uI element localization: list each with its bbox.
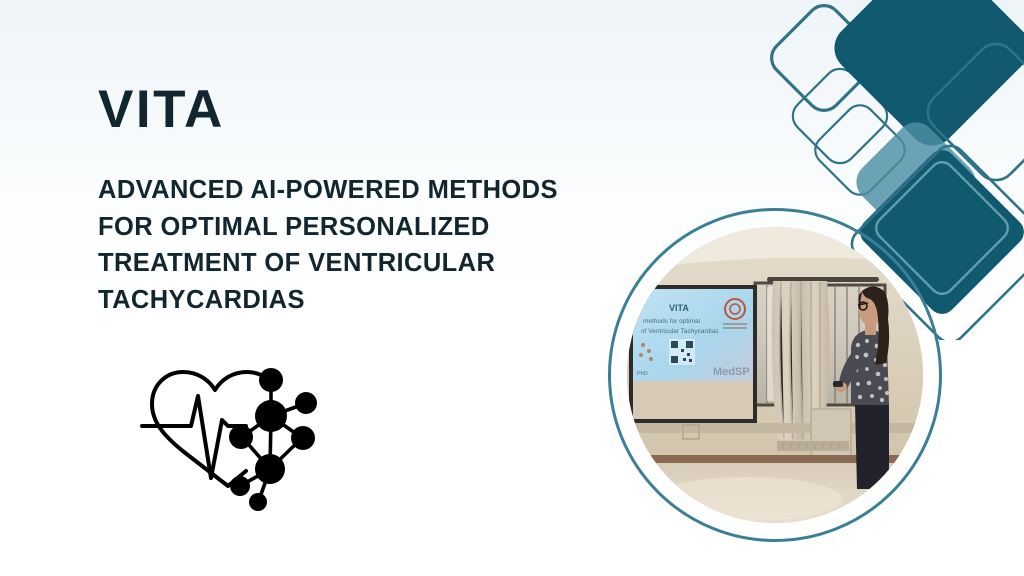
headline-block: VITA ADVANCED AI-POWERED METHODS FOR OPT… <box>98 83 638 319</box>
photo-medallion: VITA methods for optimal of Ventricular … <box>608 208 942 542</box>
outline-diamond-top-left <box>765 0 884 117</box>
subtitle-line-4: TACHYCARDIAS <box>98 282 638 319</box>
svg-text:PhD: PhD <box>637 371 648 377</box>
project-subtitle: ADVANCED AI-POWERED METHODS FOR OPTIMAL … <box>98 172 638 319</box>
outline-diamond-small-a <box>786 62 893 169</box>
svg-text:VITA: VITA <box>669 303 689 313</box>
subtitle-line-2: FOR OPTIMAL PERSONALIZED <box>98 209 638 246</box>
svg-text:methods for optimal: methods for optimal <box>643 318 701 325</box>
presentation-photo: VITA methods for optimal of Ventricular … <box>627 227 923 523</box>
subtitle-line-3: TREATMENT OF VENTRICULAR <box>98 245 638 282</box>
svg-text:of Ventricular Tachycardias: of Ventricular Tachycardias <box>641 328 719 335</box>
svg-text:MedSP: MedSP <box>713 366 750 378</box>
subtitle-line-1: ADVANCED AI-POWERED METHODS <box>98 172 638 209</box>
projection-screen: VITA methods for optimal of Ventricular … <box>629 285 757 423</box>
solid-diamond-large <box>825 0 1024 155</box>
slide-canvas: VITA ADVANCED AI-POWERED METHODS FOR OPT… <box>0 0 1024 576</box>
heart-network-icon <box>118 352 342 524</box>
outline-diamond-far-right <box>920 36 1024 189</box>
page-title: VITA <box>98 83 638 136</box>
outline-diamond-small-b <box>809 99 911 201</box>
